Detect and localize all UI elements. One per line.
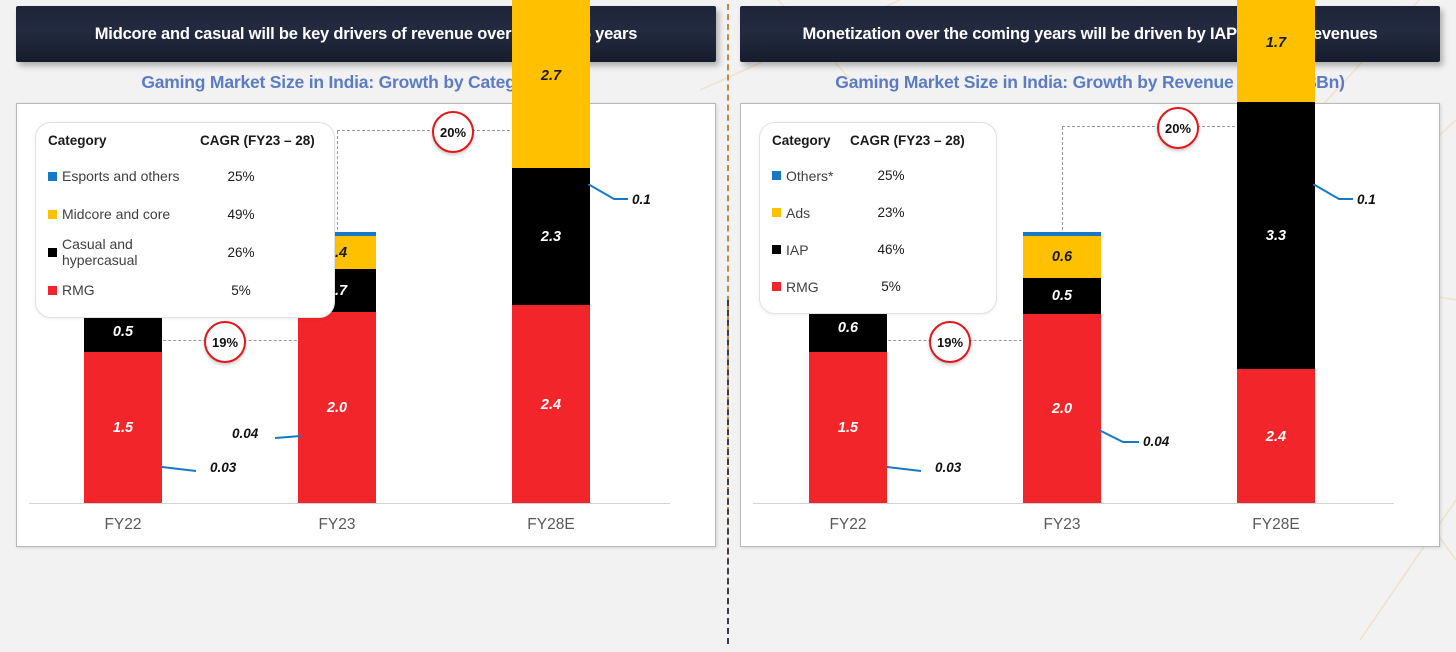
legend-item-rmg-right[interactable]: RMG 5% bbox=[772, 268, 984, 305]
leader-line-fy28e-left bbox=[588, 184, 632, 204]
legend-label-esports: Esports and others bbox=[62, 168, 210, 184]
x-axis-line-left bbox=[29, 503, 670, 504]
panel-divider-bottom bbox=[727, 300, 729, 644]
x-label-fy23-right: FY23 bbox=[1043, 516, 1080, 534]
bar-callout-others-fy22-right: 0.03 bbox=[935, 460, 961, 475]
legend-swatch-casual-icon bbox=[48, 248, 57, 257]
legend-swatch-rmg-icon bbox=[48, 286, 57, 295]
chart-title-right: Gaming Market Size in India: Growth by R… bbox=[740, 72, 1440, 93]
legend-label-casual: Casual and hypercasual bbox=[62, 236, 210, 268]
legend-cagr-rmg-right: 5% bbox=[860, 279, 922, 294]
bar-seg-rmg-fy28e-right: 2.4 bbox=[1237, 369, 1315, 504]
bar-seg-label-casual-fy28e-left: 2.3 bbox=[541, 229, 561, 245]
legend-label-others: Others* bbox=[786, 168, 860, 184]
legend-swatch-midcore-icon bbox=[48, 210, 57, 219]
bar-fy28e-right[interactable]: 2.4 3.3 1.7 bbox=[1237, 0, 1315, 504]
bar-callout-esports-fy28e-left: 0.1 bbox=[632, 192, 651, 207]
x-label-fy22-right: FY22 bbox=[829, 516, 866, 534]
bar-seg-ads-fy28e-right: 1.7 bbox=[1237, 0, 1315, 102]
leader-line-fy23-right bbox=[1099, 430, 1145, 448]
leader-line-fy23-left bbox=[271, 432, 305, 446]
panel-banner-left: Midcore and casual will be key drivers o… bbox=[16, 6, 716, 62]
legend-header-category-right: Category bbox=[772, 133, 850, 148]
legend-item-ads[interactable]: Ads 23% bbox=[772, 194, 984, 231]
bar-seg-label-rmg-fy28e-right: 2.4 bbox=[1266, 429, 1286, 445]
chart-title-left: Gaming Market Size in India: Growth by C… bbox=[16, 72, 716, 93]
legend-swatch-esports-icon bbox=[48, 172, 57, 181]
legend-swatch-others-icon bbox=[772, 171, 781, 180]
bar-seg-label-iap-fy22-right: 0.6 bbox=[838, 320, 858, 336]
legend-item-others[interactable]: Others* 25% bbox=[772, 157, 984, 194]
legend-cagr-esports: 25% bbox=[210, 169, 272, 184]
bar-callout-others-fy23-right: 0.04 bbox=[1143, 434, 1169, 449]
bar-seg-label-rmg-fy23-left: 2.0 bbox=[327, 400, 347, 416]
leader-line-fy28e-right bbox=[1313, 184, 1357, 204]
legend-item-midcore[interactable]: Midcore and core 49% bbox=[48, 195, 322, 233]
legend-header-right: Category CAGR (FY23 – 28) bbox=[772, 133, 984, 148]
bar-seg-midcore-fy28e-left: 2.7 bbox=[512, 0, 590, 168]
legend-card-left: Category CAGR (FY23 – 28) Esports and ot… bbox=[35, 122, 335, 318]
x-axis-line-right bbox=[753, 503, 1394, 504]
legend-item-esports[interactable]: Esports and others 25% bbox=[48, 157, 322, 195]
bar-seg-label-casual-fy22-left: 0.5 bbox=[113, 324, 133, 340]
bar-seg-casual-fy28e-left: 2.3 bbox=[512, 168, 590, 305]
bar-callout-esports-fy22-left: 0.03 bbox=[210, 460, 236, 475]
bar-seg-iap-fy23-right: 0.5 bbox=[1023, 278, 1101, 314]
legend-header-category: Category bbox=[48, 133, 200, 148]
legend-header-cagr-right: CAGR (FY23 – 28) bbox=[850, 133, 965, 148]
chart-plot-right: Category CAGR (FY23 – 28) Others* 25% Ad… bbox=[740, 103, 1440, 547]
bar-seg-label-midcore-fy28e-left: 2.7 bbox=[541, 68, 561, 84]
legend-swatch-iap-icon bbox=[772, 245, 781, 254]
panel-revenue-stream: Monetization over the coming years will … bbox=[728, 0, 1456, 652]
legend-cagr-ads: 23% bbox=[860, 205, 922, 220]
legend-swatch-rmg-right-icon bbox=[772, 282, 781, 291]
panel-banner-right: Monetization over the coming years will … bbox=[740, 6, 1440, 62]
cagr-bubble-19-left[interactable]: 19% bbox=[204, 321, 246, 363]
bar-callout-esports-fy23-left: 0.04 bbox=[232, 426, 258, 441]
bar-seg-label-rmg-fy28e-left: 2.4 bbox=[541, 397, 561, 413]
legend-item-rmg[interactable]: RMG 5% bbox=[48, 271, 322, 309]
legend-cagr-iap: 46% bbox=[860, 242, 922, 257]
legend-label-rmg: RMG bbox=[62, 282, 210, 298]
chart-plot-left: Category CAGR (FY23 – 28) Esports and ot… bbox=[16, 103, 716, 547]
bar-seg-label-ads-fy23-right: 0.6 bbox=[1052, 249, 1072, 265]
x-label-fy22-left: FY22 bbox=[104, 516, 141, 534]
x-axis-labels-right: FY22 FY23 FY28E bbox=[741, 516, 1439, 538]
legend-item-iap[interactable]: IAP 46% bbox=[772, 231, 984, 268]
bar-seg-label-iap-fy23-right: 0.5 bbox=[1052, 288, 1072, 304]
bar-seg-rmg-fy23-left: 2.0 bbox=[298, 312, 376, 504]
bar-seg-rmg-fy22-left: 1.5 bbox=[84, 352, 162, 504]
bar-seg-rmg-fy23-right: 2.0 bbox=[1023, 314, 1101, 504]
bar-seg-label-ads-fy28e-right: 1.7 bbox=[1266, 35, 1286, 51]
legend-cagr-rmg: 5% bbox=[210, 283, 272, 298]
bar-seg-rmg-fy28e-left: 2.4 bbox=[512, 305, 590, 504]
x-label-fy23-left: FY23 bbox=[318, 516, 355, 534]
bar-seg-rmg-fy22-right: 1.5 bbox=[809, 352, 887, 504]
bar-seg-casual-fy22-left: 0.5 bbox=[84, 312, 162, 352]
legend-swatch-ads-icon bbox=[772, 208, 781, 217]
legend-item-casual[interactable]: Casual and hypercasual 26% bbox=[48, 233, 322, 271]
bar-seg-label-rmg-fy22-right: 1.5 bbox=[838, 420, 858, 436]
legend-card-right: Category CAGR (FY23 – 28) Others* 25% Ad… bbox=[759, 122, 997, 314]
legend-cagr-casual: 26% bbox=[210, 245, 272, 260]
bar-seg-ads-fy23-right: 0.6 bbox=[1023, 236, 1101, 278]
legend-cagr-others: 25% bbox=[860, 168, 922, 183]
leader-line-fy22-left bbox=[162, 464, 212, 478]
x-label-fy28e-right: FY28E bbox=[1252, 516, 1299, 534]
leader-line-fy22-right bbox=[887, 464, 937, 478]
bar-seg-iap-fy28e-right: 3.3 bbox=[1237, 102, 1315, 369]
bar-seg-label-rmg-fy23-right: 2.0 bbox=[1052, 401, 1072, 417]
bar-callout-others-fy28e-right: 0.1 bbox=[1357, 192, 1376, 207]
bar-seg-label-rmg-fy22-left: 1.5 bbox=[113, 420, 133, 436]
legend-cagr-midcore: 49% bbox=[210, 207, 272, 222]
bar-fy23-right[interactable]: 2.0 0.5 0.6 bbox=[1023, 228, 1101, 504]
cagr-bubble-19-right[interactable]: 19% bbox=[929, 321, 971, 363]
x-axis-labels-left: FY22 FY23 FY28E bbox=[17, 516, 715, 538]
legend-label-ads: Ads bbox=[786, 205, 860, 221]
legend-label-iap: IAP bbox=[786, 242, 860, 258]
dashboard: Midcore and casual will be key drivers o… bbox=[0, 0, 1456, 652]
legend-label-rmg-right: RMG bbox=[786, 279, 860, 295]
legend-header-cagr: CAGR (FY23 – 28) bbox=[200, 133, 315, 148]
legend-header-left: Category CAGR (FY23 – 28) bbox=[48, 133, 322, 148]
panel-category: Midcore and casual will be key drivers o… bbox=[0, 0, 728, 652]
cagr-bubble-20-left[interactable]: 20% bbox=[432, 111, 474, 153]
legend-label-midcore: Midcore and core bbox=[62, 206, 210, 222]
cagr-bubble-20-right[interactable]: 20% bbox=[1157, 107, 1199, 149]
bar-seg-others-fy23-right bbox=[1023, 232, 1101, 236]
bar-fy28e-left[interactable]: 2.4 2.3 2.7 bbox=[512, 0, 590, 504]
x-label-fy28e-left: FY28E bbox=[527, 516, 574, 534]
bar-seg-label-iap-fy28e-right: 3.3 bbox=[1266, 228, 1286, 244]
